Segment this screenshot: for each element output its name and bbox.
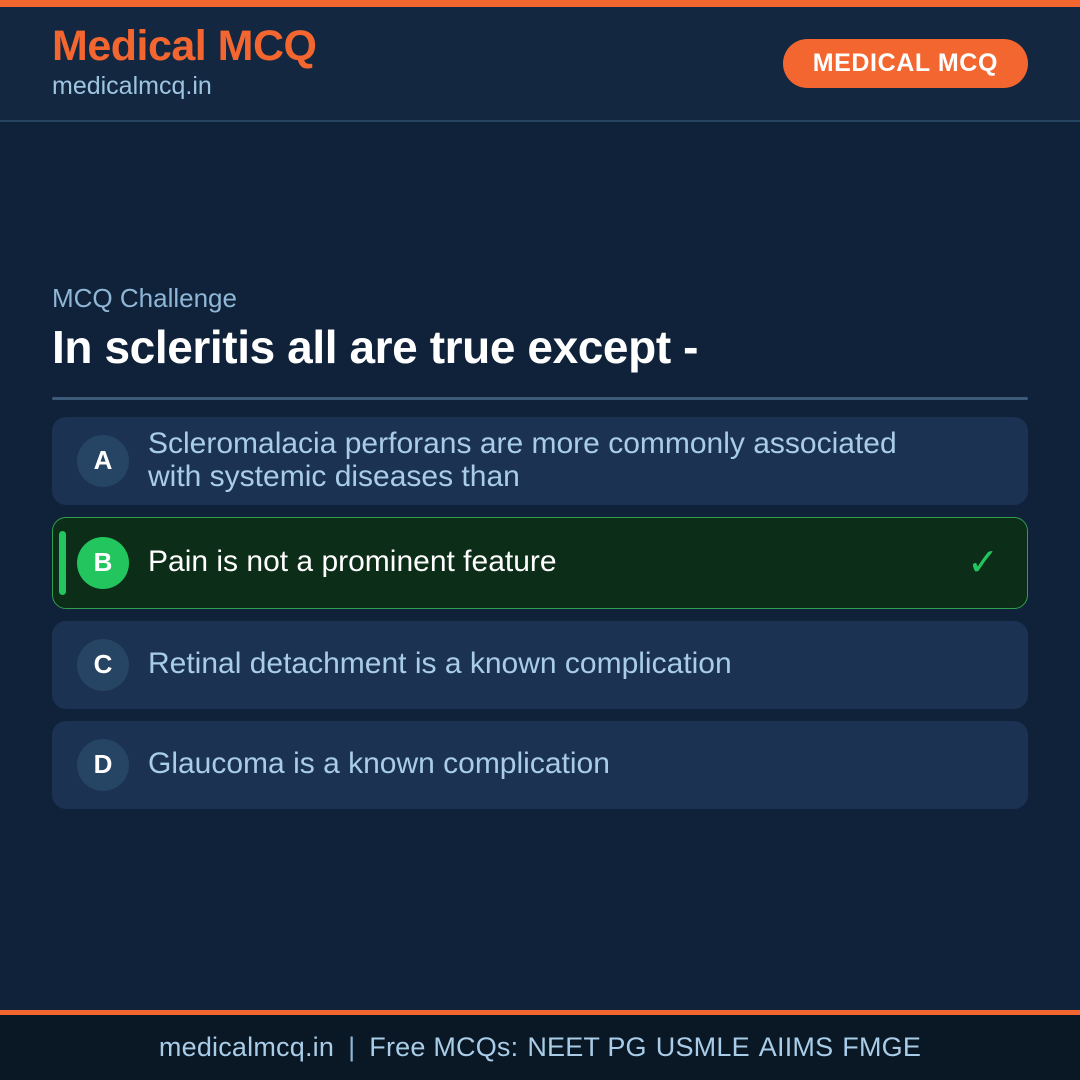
- option-a[interactable]: A Scleromalacia perforans are more commo…: [52, 417, 1028, 505]
- brand: Medical MCQ medicalmcq.in: [52, 24, 317, 102]
- footer: medicalmcq.in|Free MCQs:NEET PGUSMLEAIIM…: [0, 1010, 1080, 1080]
- check-icon: ✓: [961, 544, 1005, 582]
- question-block: MCQ Challenge In scleritis all are true …: [52, 283, 1028, 808]
- footer-exam[interactable]: NEET PG: [527, 1032, 646, 1062]
- footer-separator: |: [334, 1032, 369, 1062]
- main-content: MCQ Challenge In scleritis all are true …: [0, 122, 1080, 1010]
- brand-title: Medical MCQ: [52, 24, 317, 69]
- header-badge: MEDICAL MCQ: [783, 39, 1028, 88]
- option-letter-badge: C: [77, 639, 129, 691]
- brand-subtitle: medicalmcq.in: [52, 71, 317, 102]
- options-list: A Scleromalacia perforans are more commo…: [52, 417, 1028, 809]
- mcq-card: Medical MCQ medicalmcq.in MEDICAL MCQ MC…: [0, 0, 1080, 1080]
- footer-text: medicalmcq.in|Free MCQs:NEET PGUSMLEAIIM…: [159, 1032, 921, 1063]
- option-text: Glaucoma is a known complication: [148, 748, 961, 780]
- question-divider: [52, 397, 1028, 400]
- option-text: Pain is not a prominent feature: [148, 546, 961, 578]
- option-d[interactable]: D Glaucoma is a known complication ✓: [52, 721, 1028, 809]
- option-letter-badge: D: [77, 739, 129, 791]
- question-eyebrow: MCQ Challenge: [52, 283, 1028, 314]
- footer-exam-list: NEET PGUSMLEAIIMSFMGE: [518, 1032, 921, 1062]
- footer-site[interactable]: medicalmcq.in: [159, 1032, 334, 1062]
- footer-exam[interactable]: USMLE: [656, 1032, 750, 1062]
- option-letter-badge: A: [77, 435, 129, 487]
- footer-exam[interactable]: AIIMS: [759, 1032, 834, 1062]
- footer-exam[interactable]: FMGE: [842, 1032, 921, 1062]
- option-b[interactable]: B Pain is not a prominent feature ✓: [52, 517, 1028, 609]
- footer-label: Free MCQs:: [369, 1032, 518, 1062]
- question-text: In scleritis all are true except -: [52, 321, 1028, 374]
- option-c[interactable]: C Retinal detachment is a known complica…: [52, 621, 1028, 709]
- header: Medical MCQ medicalmcq.in MEDICAL MCQ: [0, 7, 1080, 122]
- option-text: Retinal detachment is a known complicati…: [148, 648, 961, 680]
- correct-accent-bar: [59, 531, 66, 595]
- option-letter-badge: B: [77, 537, 129, 589]
- top-accent-bar: [0, 0, 1080, 7]
- option-text: Scleromalacia perforans are more commonl…: [148, 428, 961, 493]
